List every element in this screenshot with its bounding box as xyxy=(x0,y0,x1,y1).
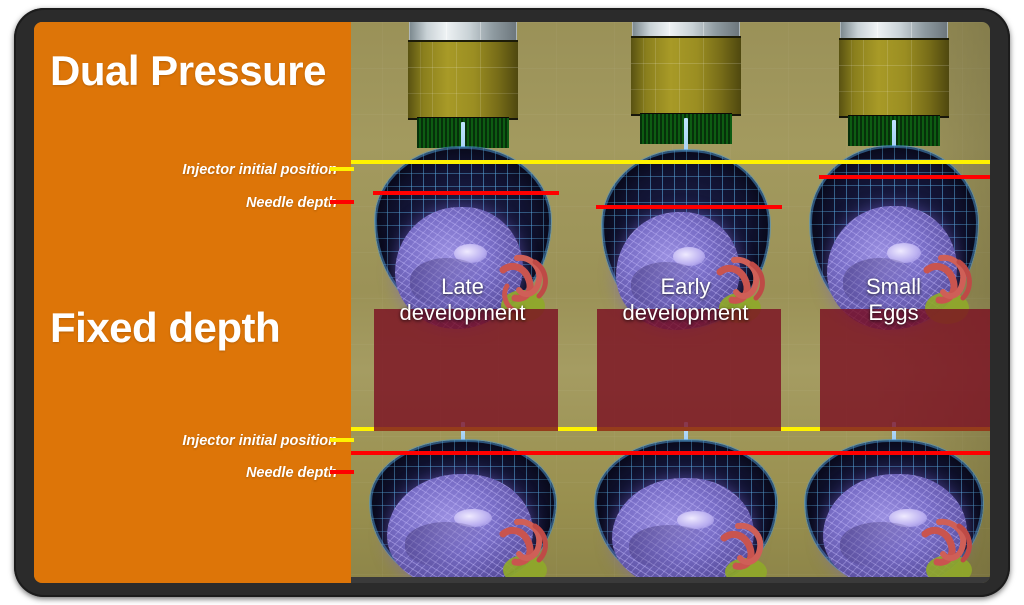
leader-injector-top xyxy=(330,167,354,171)
caption-early-development: Early development xyxy=(574,274,797,326)
row-title-fixed-depth: Fixed depth xyxy=(50,307,280,349)
annotation-needle-depth-top: Needle depth xyxy=(246,195,337,211)
caption-line-2: Eggs xyxy=(797,300,990,326)
annotation-needle-depth-bottom: Needle depth xyxy=(246,465,337,481)
line-needle-depth-bottom xyxy=(330,451,990,455)
maroon-overlay-late xyxy=(374,309,558,431)
leader-needle-bottom xyxy=(330,470,354,474)
annotation-injector-initial-position-bottom: Injector initial position xyxy=(182,433,337,449)
row-title-dual-pressure: Dual Pressure xyxy=(50,50,326,92)
maroon-overlay-small xyxy=(820,309,990,431)
screenshot-root: Dual Pressure Fixed depth Injector initi… xyxy=(0,0,1024,605)
syringe-olive-barrel xyxy=(839,38,949,118)
device-bezel: Dual Pressure Fixed depth Injector initi… xyxy=(14,8,1010,597)
maroon-overlay-early xyxy=(597,309,781,431)
caption-line-1: Late xyxy=(351,274,574,300)
orange-panel: Dual Pressure Fixed depth Injector initi… xyxy=(34,22,351,583)
caption-line-2: development xyxy=(574,300,797,326)
line-needle-depth-top-col1 xyxy=(373,191,559,195)
line-needle-depth-top-col2 xyxy=(596,205,782,209)
caption-line-1: Small xyxy=(797,274,990,300)
syringe-olive-barrel xyxy=(408,40,518,120)
caption-small-eggs: Small Eggs xyxy=(797,274,990,326)
vessel-cluster-bottom xyxy=(491,508,565,583)
device-screen: Dual Pressure Fixed depth Injector initi… xyxy=(34,22,990,583)
annotation-injector-initial-position-top: Injector initial position xyxy=(182,162,337,178)
leader-needle-top xyxy=(330,200,354,204)
line-needle-depth-top-col3 xyxy=(819,175,990,179)
vessel-cluster-bottom xyxy=(913,508,989,583)
caption-line-2: development xyxy=(351,300,574,326)
vessel-cluster-bottom xyxy=(714,514,784,583)
leader-injector-bottom xyxy=(330,438,354,442)
syringe-olive-barrel xyxy=(631,36,741,116)
caption-late-development: Late development xyxy=(351,274,574,326)
line-injector-initial-position-top xyxy=(330,160,990,164)
caption-line-1: Early xyxy=(574,274,797,300)
slide-canvas: Dual Pressure Fixed depth Injector initi… xyxy=(34,22,990,583)
